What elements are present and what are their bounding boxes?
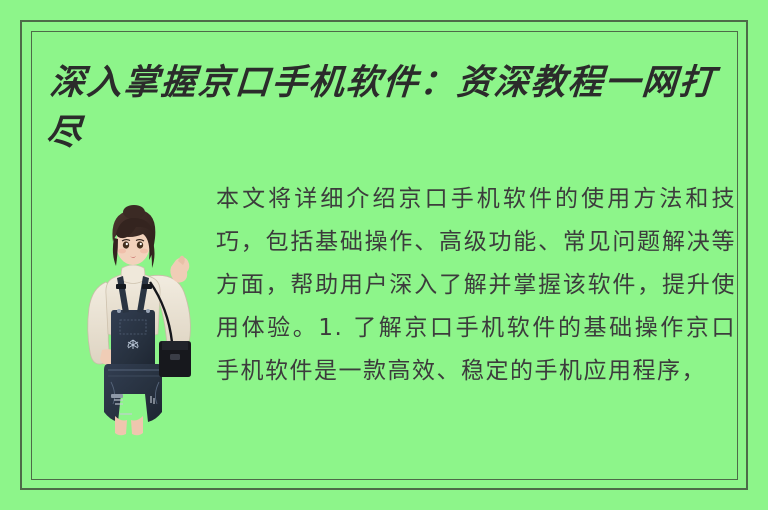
article-body-text: 本文将详细介绍京口手机软件的使用方法和技巧，包括基础操作、高级功能、常见问题解决… bbox=[216, 178, 736, 393]
page-title: 深入掌握京口手机软件：资深教程一网打尽 bbox=[45, 58, 732, 158]
article-illustration bbox=[58, 198, 208, 453]
